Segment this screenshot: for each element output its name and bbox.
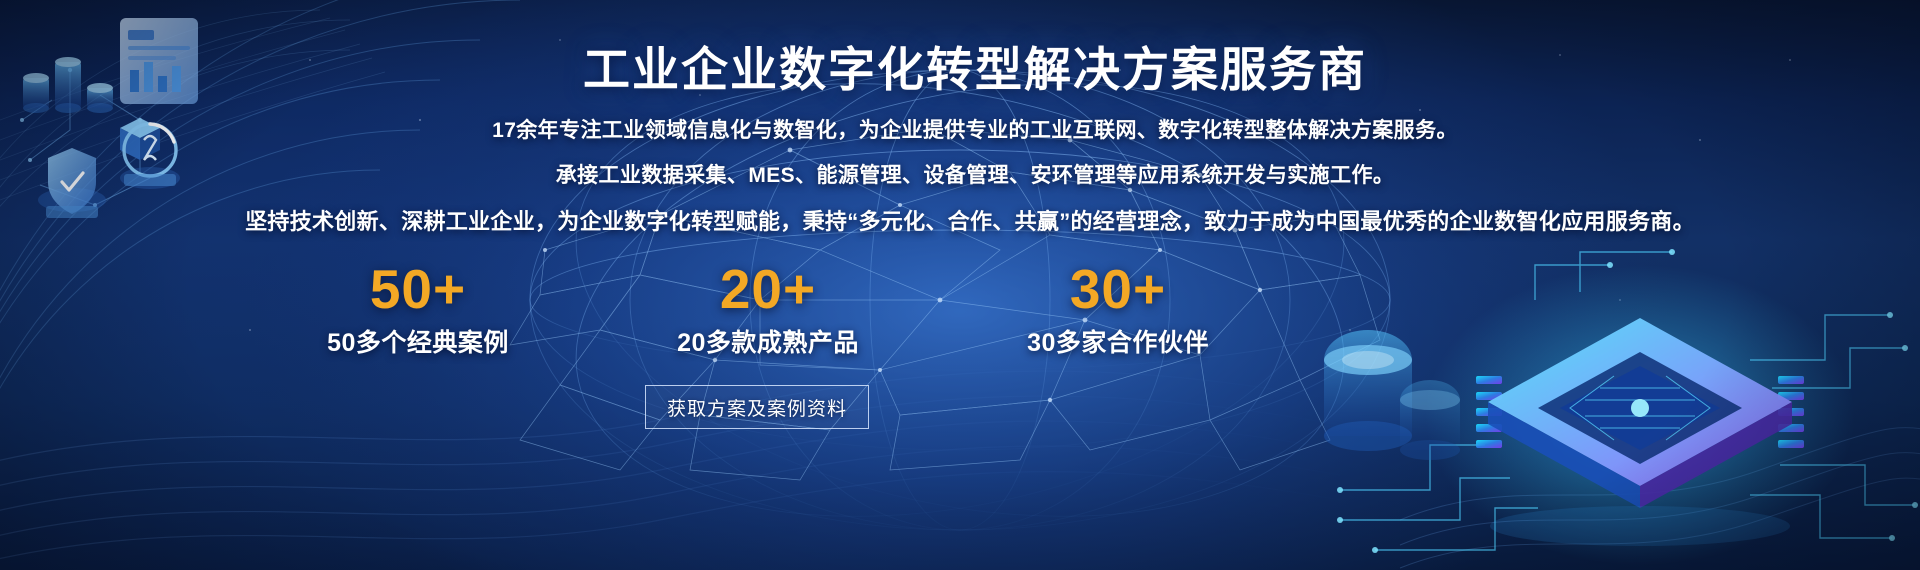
stat-number-partners: 30+ [968, 258, 1268, 320]
stat-item-products: 20+ 20多款成熟产品 [618, 258, 918, 360]
subtitle-line-1: 17余年专注工业领域信息化与数智化，为企业提供专业的工业互联网、数字化转型整体解… [0, 116, 1920, 146]
banner-content: 工业企业数字化转型解决方案服务商 17余年专注工业领域信息化与数智化，为企业提供… [0, 0, 1920, 570]
stat-label-products: 20多款成熟产品 [618, 326, 918, 360]
get-solution-button[interactable]: 获取方案及案例资料 [645, 385, 869, 429]
stat-item-cases: 50+ 50多个经典案例 [268, 258, 568, 360]
stat-number-products: 20+ [618, 258, 918, 320]
subtitle-line-3: 坚持技术创新、深耕工业企业，为企业数字化转型赋能，秉持“多元化、合作、共赢”的经… [0, 206, 1920, 238]
stat-label-cases: 50多个经典案例 [268, 326, 568, 360]
stats-row: 50+ 50多个经典案例 20+ 20多款成熟产品 30+ 30多家合作伙伴 [268, 258, 1268, 360]
stat-item-partners: 30+ 30多家合作伙伴 [968, 258, 1268, 360]
hero-banner: 工业企业数字化转型解决方案服务商 17余年专注工业领域信息化与数智化，为企业提供… [0, 0, 1920, 570]
stat-label-partners: 30多家合作伙伴 [968, 326, 1268, 360]
subtitle-line-2: 承接工业数据采集、MES、能源管理、设备管理、安环管理等应用系统开发与实施工作。 [0, 161, 1920, 191]
stat-number-cases: 50+ [268, 258, 568, 320]
page-title: 工业企业数字化转型解决方案服务商 [0, 40, 1920, 100]
